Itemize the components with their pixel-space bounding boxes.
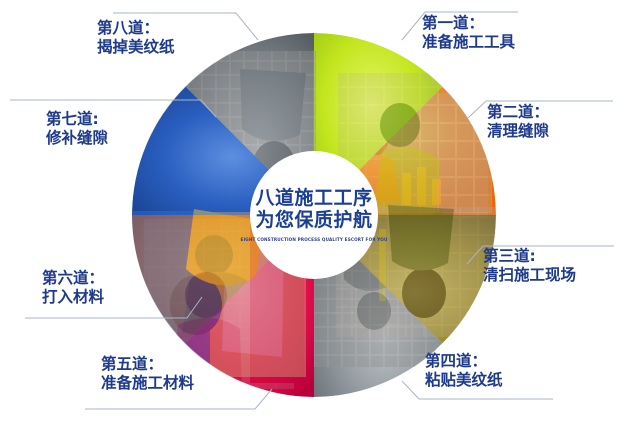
hub-title-line1: 八道施工工序 <box>255 187 372 209</box>
step-label-6-name: 打入材料 <box>42 288 104 307</box>
step-label-4[interactable]: 第四道： 粘贴美纹纸 <box>425 352 503 390</box>
step-label-7-step: 第七道: <box>46 110 99 128</box>
step-label-1-name: 准备施工工具 <box>422 33 515 52</box>
step-label-1-step: 第一道： <box>422 14 484 32</box>
step-label-6-step: 第六道： <box>42 269 104 287</box>
infographic-canvas: 八道施工工序 为您保质护航 EIGHT CONSTRUCTION PROCESS… <box>0 0 628 427</box>
step-label-7-name: 修补缝隙 <box>46 129 108 148</box>
step-label-5-step: 第五道： <box>101 355 163 373</box>
step-label-5[interactable]: 第五道： 准备施工材料 <box>101 355 194 393</box>
step-label-3-name: 清扫施工现场 <box>483 266 576 285</box>
hub-subtitle-english: EIGHT CONSTRUCTION PROCESS QUALITY ESCOR… <box>241 237 388 243</box>
connector-line-7 <box>10 100 216 117</box>
step-label-6[interactable]: 第六道： 打入材料 <box>42 269 104 307</box>
step-label-8-name: 揭掉美纹纸 <box>97 38 175 57</box>
step-label-8[interactable]: 第八道： 揭掉美纹纸 <box>97 19 175 57</box>
step-label-3-step: 第三道: <box>483 247 536 265</box>
center-hub: 八道施工工序 为您保质护航 EIGHT CONSTRUCTION PROCESS… <box>250 151 378 279</box>
step-label-7[interactable]: 第七道: 修补缝隙 <box>46 110 108 148</box>
step-label-5-name: 准备施工材料 <box>101 374 194 393</box>
step-label-3[interactable]: 第三道: 清扫施工现场 <box>483 247 576 285</box>
step-label-4-name: 粘贴美纹纸 <box>425 371 503 390</box>
step-label-4-step: 第四道： <box>425 352 487 370</box>
step-label-2[interactable]: 第二道： 清理缝隙 <box>487 103 549 141</box>
step-label-1[interactable]: 第一道： 准备施工工具 <box>422 14 515 52</box>
step-label-8-step: 第八道： <box>97 19 159 37</box>
step-label-2-name: 清理缝隙 <box>487 122 549 141</box>
step-label-2-step: 第二道： <box>487 103 549 121</box>
hub-title-line2: 为您保质护航 <box>255 209 372 231</box>
